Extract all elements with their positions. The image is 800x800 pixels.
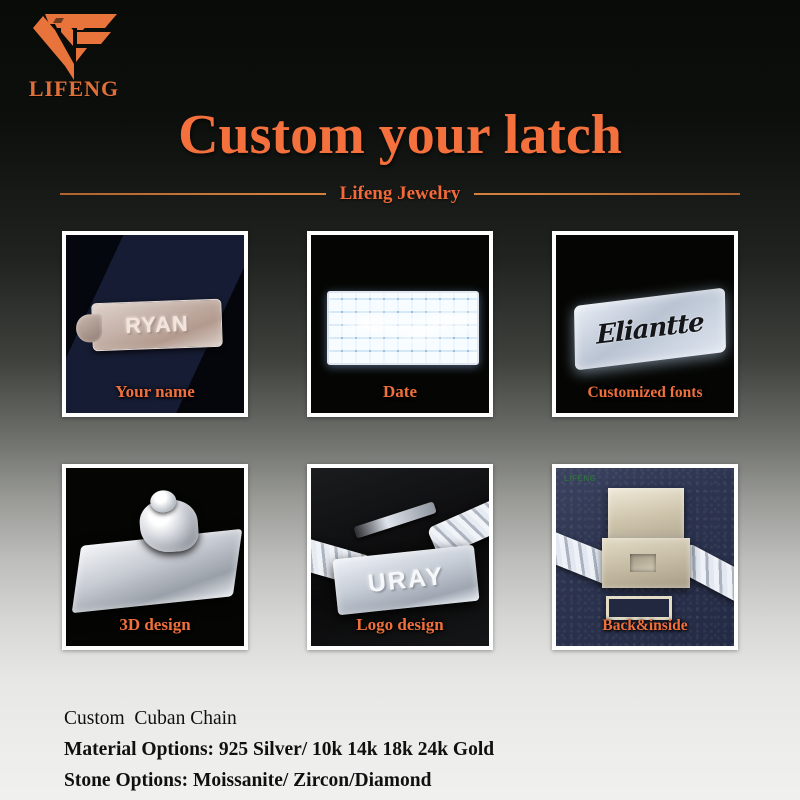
feature-card-caption: Logo design bbox=[311, 615, 489, 635]
page-title: Custom your latch bbox=[0, 103, 800, 167]
photo-logo-design: URAY Logo design bbox=[311, 468, 489, 646]
product-specs: Custom Cuban Chain Material Options: 925… bbox=[64, 703, 764, 796]
spec-line-material-options: Material Options: 925 Silver/ 10k 14k 18… bbox=[64, 734, 764, 765]
spec-line-product: Custom Cuban Chain bbox=[64, 703, 764, 734]
feature-card-caption: Date bbox=[311, 382, 489, 402]
feature-grid: RYAN Your name Date E bbox=[62, 231, 738, 650]
divider-left bbox=[60, 193, 326, 195]
feature-card-caption: Customized fonts bbox=[556, 384, 734, 402]
photo-date: Date bbox=[311, 235, 489, 413]
photo-back-and-inside: LIFENG Back&inside bbox=[556, 468, 734, 646]
brand-logo: LIFENG bbox=[14, 6, 134, 102]
subtitle-row: Lifeng Jewelry bbox=[60, 183, 740, 205]
feature-card-date[interactable]: Date bbox=[307, 231, 493, 417]
lifeng-diamond-monogram-icon bbox=[31, 6, 117, 80]
photo-watermark: LIFENG bbox=[564, 474, 596, 483]
photo-your-name: RYAN Your name bbox=[66, 235, 244, 413]
feature-card-caption: Your name bbox=[66, 382, 244, 402]
feature-card-logo-design[interactable]: URAY Logo design bbox=[307, 464, 493, 650]
subtitle: Lifeng Jewelry bbox=[340, 183, 461, 205]
feature-card-customized-fonts[interactable]: Eliantte Customized fonts bbox=[552, 231, 738, 417]
feature-card-caption: 3D design bbox=[66, 615, 244, 635]
photo-3d-design: 3D design bbox=[66, 468, 244, 646]
spec-line-stone-options: Stone Options: Moissanite/ Zircon/Diamon… bbox=[64, 765, 764, 796]
feature-card-3d-design[interactable]: 3D design bbox=[62, 464, 248, 650]
feature-card-your-name[interactable]: RYAN Your name bbox=[62, 231, 248, 417]
photo-customized-fonts: Eliantte Customized fonts bbox=[556, 235, 734, 413]
latch-inscription: RYAN bbox=[92, 300, 222, 350]
divider-right bbox=[474, 193, 740, 195]
feature-card-back-and-inside[interactable]: LIFENG Back&inside bbox=[552, 464, 738, 650]
feature-card-caption: Back&inside bbox=[556, 617, 734, 635]
product-poster: LIFENG Custom your latch Lifeng Jewelry … bbox=[0, 0, 800, 800]
